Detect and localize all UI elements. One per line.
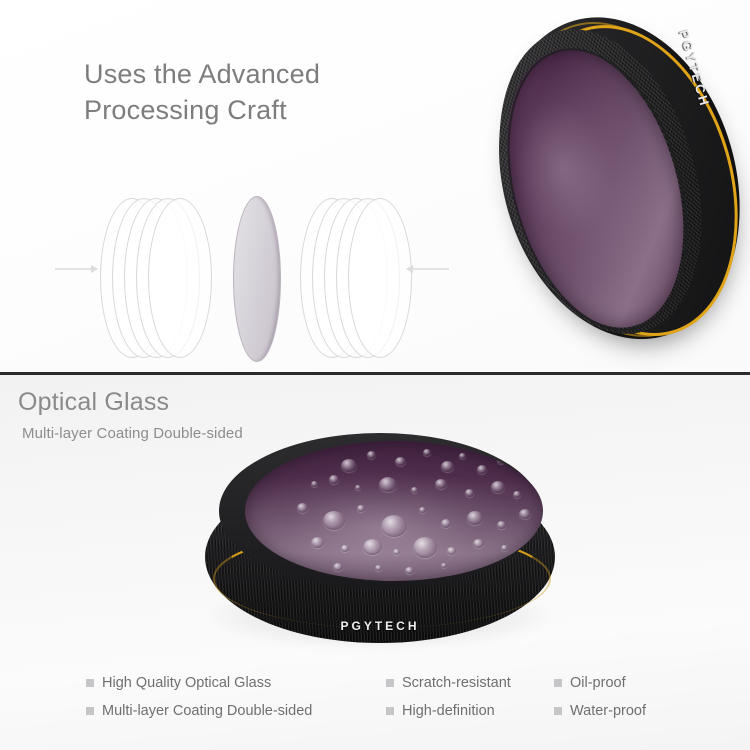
filter-housing: PGYTECH (463, 0, 750, 368)
feature-item: High-definition (386, 703, 554, 719)
water-droplet (333, 563, 343, 571)
feature-label: Scratch-resistant (402, 675, 511, 691)
feature-label: Multi-layer Coating Double-sided (102, 703, 312, 719)
water-droplet (355, 485, 361, 490)
water-droplet (367, 451, 376, 459)
water-droplet (497, 521, 506, 529)
feature-label: Water-proof (570, 703, 646, 719)
brand-logo: PGYTECH (340, 619, 419, 633)
arrow-right-icon (55, 268, 97, 270)
filter-top-ring (219, 433, 541, 589)
water-droplet (459, 453, 466, 459)
arrow-left-icon (407, 268, 449, 270)
water-droplet (405, 567, 414, 574)
lens-filter-hero: PGYTECH (463, 0, 750, 372)
water-droplet (465, 489, 474, 497)
bullet-square-icon (86, 707, 94, 715)
water-droplet (497, 457, 505, 464)
bullet-square-icon (386, 707, 394, 715)
coating-layer (348, 198, 412, 358)
water-droplet (513, 491, 521, 498)
bullet-square-icon (86, 679, 94, 687)
feature-item: High Quality Optical Glass (86, 675, 386, 691)
section-title: Optical Glass (18, 388, 169, 417)
water-droplet (413, 537, 437, 558)
filter-glass-surface (245, 441, 543, 581)
water-droplet (447, 547, 456, 555)
water-droplet (375, 565, 382, 571)
water-droplet (491, 481, 505, 493)
feature-label: Oil-proof (570, 675, 626, 691)
water-droplet (441, 461, 454, 472)
water-droplet (519, 509, 531, 519)
water-droplet (419, 507, 426, 513)
product-marketing-image: Uses the Advanced Processing Craft (0, 0, 750, 750)
water-droplet (323, 511, 345, 530)
water-droplet (311, 481, 318, 487)
water-droplet (393, 549, 400, 555)
coating-layer (148, 198, 212, 358)
headline: Uses the Advanced Processing Craft (84, 56, 320, 128)
water-droplet (501, 545, 508, 551)
water-droplet (423, 449, 431, 456)
feature-label: High-definition (402, 703, 495, 719)
water-droplet (473, 539, 484, 548)
water-droplet (441, 519, 451, 528)
feature-list: High Quality Optical GlassScratch-resist… (86, 675, 726, 719)
multi-layer-coating-diagram (55, 180, 465, 370)
feature-item: Water-proof (554, 703, 726, 719)
water-droplet (435, 479, 447, 489)
water-droplet (341, 545, 349, 552)
feature-item: Oil-proof (554, 675, 726, 691)
water-droplet (395, 457, 406, 466)
water-droplet (441, 563, 447, 568)
bullet-square-icon (554, 707, 562, 715)
water-droplet (311, 537, 324, 548)
water-droplet (357, 505, 365, 512)
coating-stack-right (300, 198, 420, 358)
water-droplet (363, 539, 382, 555)
feature-label: High Quality Optical Glass (102, 675, 271, 691)
bullet-square-icon (386, 679, 394, 687)
water-droplet (329, 475, 339, 484)
coating-stack-left (100, 198, 220, 358)
lens-filter-flat: PGYTECH (205, 433, 555, 663)
top-panel: Uses the Advanced Processing Craft (0, 0, 750, 372)
water-droplet (341, 459, 357, 472)
bottom-panel: Optical Glass Multi-layer Coating Double… (0, 375, 750, 750)
feature-item: Multi-layer Coating Double-sided (86, 703, 386, 719)
water-droplet (411, 487, 418, 493)
water-droplet (467, 511, 483, 525)
bullet-square-icon (554, 679, 562, 687)
water-droplet (379, 477, 397, 492)
optical-glass-core (233, 196, 281, 362)
water-droplet (297, 503, 308, 513)
water-droplet (477, 465, 487, 474)
water-droplet (381, 515, 407, 537)
feature-item: Scratch-resistant (386, 675, 554, 691)
